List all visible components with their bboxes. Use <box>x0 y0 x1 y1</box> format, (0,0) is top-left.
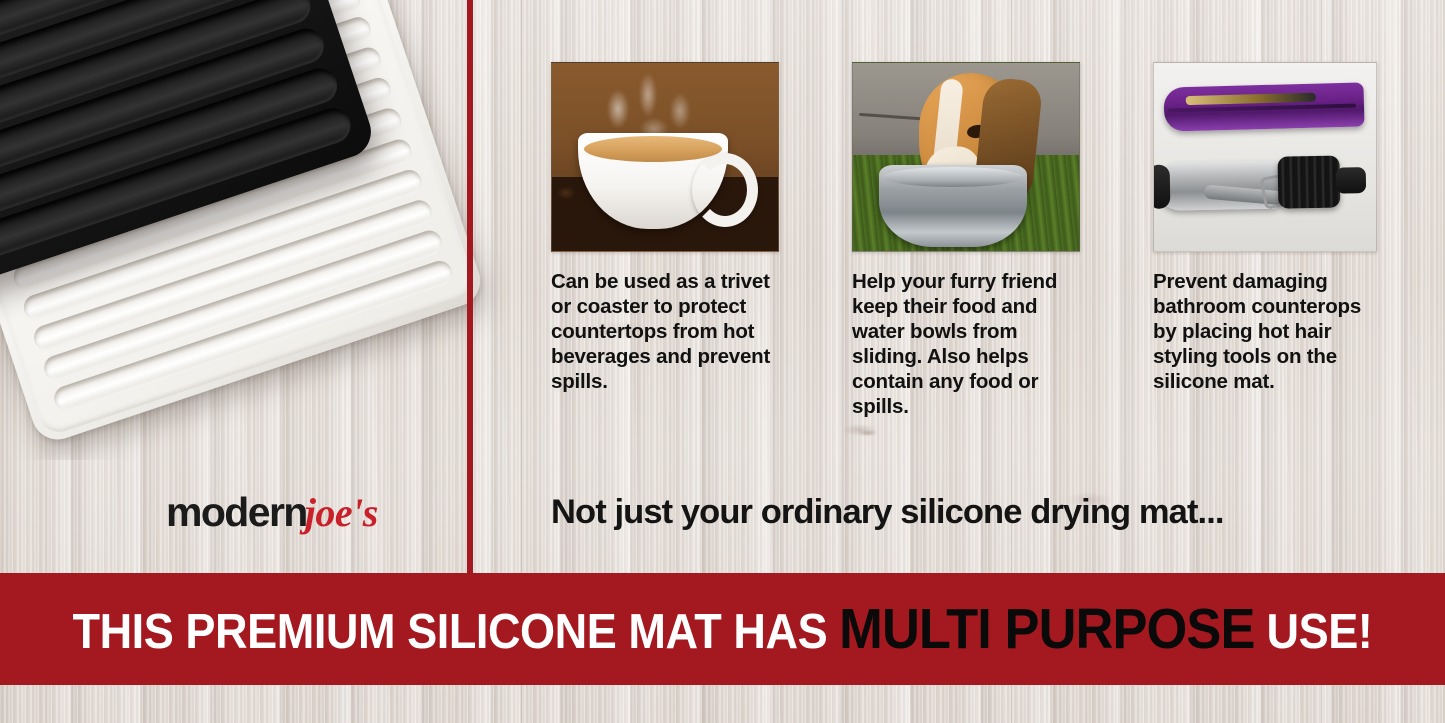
vertical-red-divider <box>467 0 473 573</box>
curling-iron-grip <box>1278 156 1341 209</box>
curling-iron-cord <box>1336 167 1366 194</box>
hair-styling-tools-photo <box>1153 62 1377 252</box>
cup-handle <box>692 153 758 227</box>
banner-text-part3: USE! <box>1267 604 1373 660</box>
curling-iron <box>1153 153 1365 217</box>
feature-caption: Prevent damaging bathroom counterops by … <box>1153 269 1381 394</box>
flat-iron-straightener <box>1163 82 1364 131</box>
feature-columns: Can be used as a trivet or coaster to pr… <box>551 62 1381 419</box>
feature-pet-bowl: Help your furry friend keep their food a… <box>852 62 1080 419</box>
steam-wisps <box>596 69 716 143</box>
flat-iron-gap <box>1168 104 1356 113</box>
multi-purpose-banner: THIS PREMIUM SILICONE MAT HAS MULTI PURP… <box>0 573 1445 685</box>
curling-iron-tip <box>1153 165 1170 209</box>
brand-name-primary: modern <box>166 489 307 536</box>
steel-food-bowl <box>879 165 1027 247</box>
brand-logo: modern joe's <box>166 489 378 536</box>
coffee-crema <box>584 136 722 162</box>
flat-iron-plate <box>1186 93 1316 105</box>
dog-eating-photo <box>852 62 1080 252</box>
feature-caption: Can be used as a trivet or coaster to pr… <box>551 269 779 394</box>
coffee-cup-photo <box>551 62 779 252</box>
banner-text-part2: MULTI PURPOSE <box>839 596 1254 662</box>
product-photo <box>0 0 514 460</box>
brand-name-secondary: joe's <box>305 489 378 536</box>
banner-text-part1: THIS PREMIUM SILICONE MAT HAS <box>73 604 828 660</box>
feature-hair-tools: Prevent damaging bathroom counterops by … <box>1153 62 1381 419</box>
feature-caption: Help your furry friend keep their food a… <box>852 269 1080 419</box>
product-marketing-banner: Can be used as a trivet or coaster to pr… <box>0 0 1445 723</box>
feature-trivet: Can be used as a trivet or coaster to pr… <box>551 62 779 419</box>
tagline: Not just your ordinary silicone drying m… <box>551 493 1224 532</box>
bowl-rim <box>883 167 1023 187</box>
